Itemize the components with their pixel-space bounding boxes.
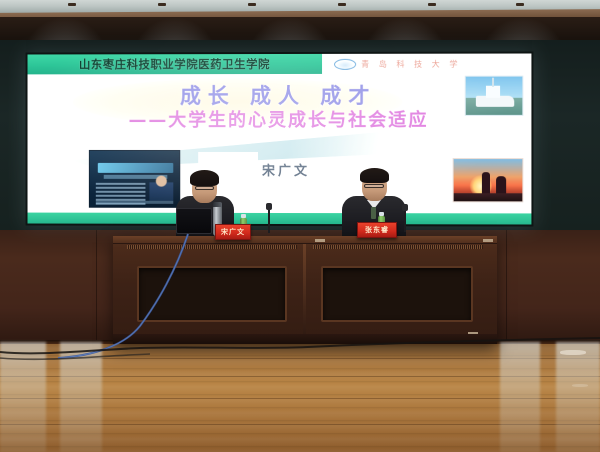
ceiling-fixture-icon [248, 3, 256, 6]
university-logo-row: 青 岛 科 技 大 学 [322, 53, 531, 73]
stage-cable-dark [0, 326, 600, 386]
slide-speaker-name: 宋广文 [262, 160, 310, 179]
right-wall [532, 40, 600, 230]
ceiling-fixture-icon [516, 3, 524, 6]
poster-person-figure [149, 175, 173, 201]
left-wall [0, 40, 26, 230]
slide-header: 山东枣庄科技职业学院医药卫生学院 青 岛 科 技 大 学 [28, 53, 532, 74]
microphone-head-icon [266, 203, 272, 210]
ceiling-fixture-icon [68, 3, 76, 6]
ceiling-fixture-icon [428, 3, 436, 6]
bottle-cap [241, 214, 246, 218]
slide-subtitle: ——大学生的心灵成长与社会适应 [28, 106, 532, 132]
person-left-glasses-icon [195, 186, 214, 190]
ship-tower-shape [486, 86, 500, 98]
projection-screen: 山东枣庄科技职业学院医药卫生学院 青 岛 科 技 大 学 成长 成人 成才 ——… [26, 51, 534, 226]
bottle-cap [379, 212, 384, 216]
presentation-slide: 山东枣庄科技职业学院医药卫生学院 青 岛 科 技 大 学 成长 成人 成才 ——… [28, 53, 532, 224]
thermos-cap [213, 202, 222, 207]
ceiling-fixture-icon [338, 3, 346, 6]
person-right-tie [371, 207, 376, 219]
slide-banner-title: 山东枣庄科技职业学院医药卫生学院 [28, 54, 323, 74]
lecture-poster-image [89, 150, 180, 208]
ship-mast-shape [492, 78, 494, 87]
sunset-silhouette-image [453, 158, 524, 202]
poster-title-bar [98, 163, 173, 173]
sunset-figure-shape [482, 172, 490, 194]
poster-footer-bar [96, 201, 173, 204]
university-emblem-icon [334, 58, 356, 69]
ship-photo-image [465, 76, 524, 116]
ceiling-fixture-icon [158, 3, 166, 6]
sunset-figure-shape [496, 176, 506, 194]
person-right-glasses-icon [364, 184, 384, 188]
person-left-hair [190, 170, 219, 186]
sunset-pier-shape [454, 193, 523, 201]
lecture-hall-scene: 山东枣庄科技职业学院医药卫生学院 青 岛 科 技 大 学 成长 成人 成才 ——… [0, 0, 600, 452]
microphone-right [404, 210, 406, 232]
person-right-hair [360, 168, 389, 183]
university-name-label: 青 岛 科 技 大 学 [361, 58, 461, 69]
microphone-head-icon [402, 204, 408, 211]
slide-bottom-bar [28, 213, 532, 225]
